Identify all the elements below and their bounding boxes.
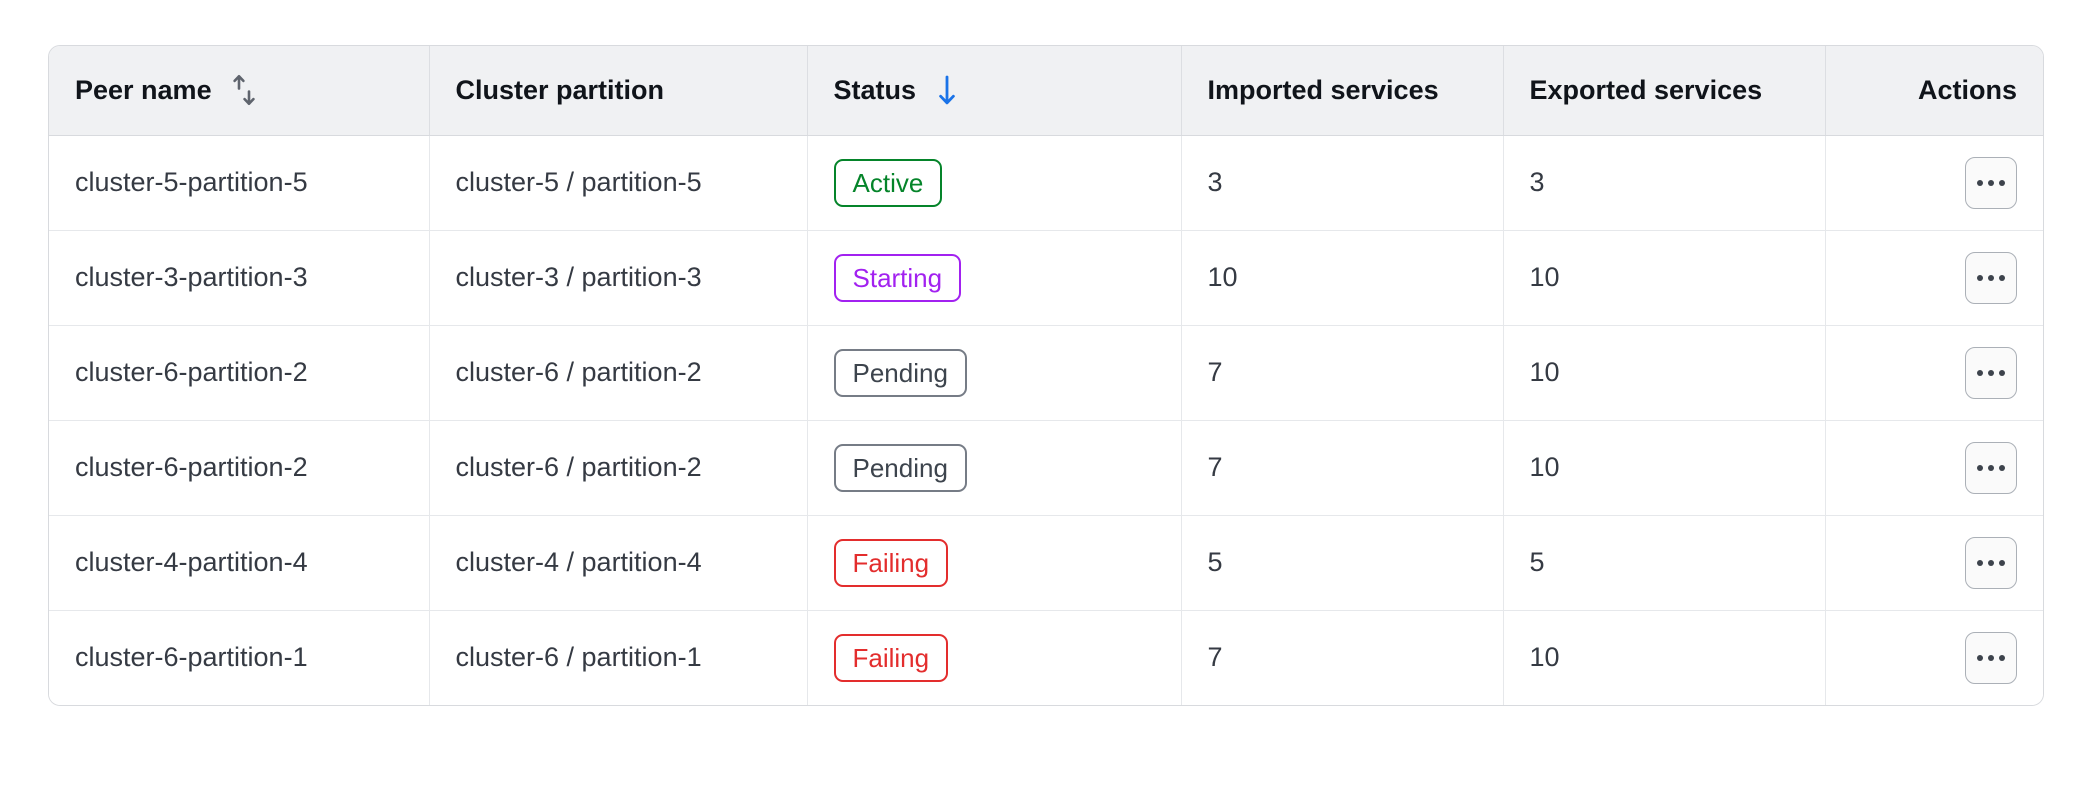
sort-updown-icon[interactable] — [230, 73, 258, 107]
cell-actions — [1825, 135, 2043, 230]
cell-exported-services: 10 — [1503, 325, 1825, 420]
table-header: Peer name — [49, 46, 2043, 135]
status-badge: Pending — [834, 349, 967, 397]
cell-cluster-partition: cluster-4 / partition-4 — [429, 515, 807, 610]
row-actions-menu-button[interactable] — [1965, 157, 2017, 209]
cell-cluster-partition: cluster-6 / partition-2 — [429, 420, 807, 515]
peers-table: Peer name — [49, 46, 2043, 705]
cell-status: Failing — [807, 515, 1181, 610]
ellipsis-horizontal-icon — [1977, 275, 2005, 281]
cell-cluster-partition: cluster-3 / partition-3 — [429, 230, 807, 325]
cell-status: Pending — [807, 420, 1181, 515]
cell-cluster-partition: cluster-5 / partition-5 — [429, 135, 807, 230]
cell-peer-name: cluster-5-partition-5 — [49, 135, 429, 230]
cell-exported-services: 5 — [1503, 515, 1825, 610]
cell-status: Active — [807, 135, 1181, 230]
column-header-cluster-partition[interactable]: Cluster partition — [429, 46, 807, 135]
cell-peer-name: cluster-3-partition-3 — [49, 230, 429, 325]
cell-exported-services: 10 — [1503, 420, 1825, 515]
cell-actions — [1825, 515, 2043, 610]
column-header-peer-name[interactable]: Peer name — [49, 46, 429, 135]
table-row[interactable]: cluster-5-partition-5cluster-5 / partiti… — [49, 135, 2043, 230]
cell-peer-name: cluster-6-partition-2 — [49, 420, 429, 515]
column-header-exported-services[interactable]: Exported services — [1503, 46, 1825, 135]
ellipsis-horizontal-icon — [1977, 465, 2005, 471]
cell-peer-name: cluster-6-partition-2 — [49, 325, 429, 420]
cell-actions — [1825, 420, 2043, 515]
cell-imported-services: 10 — [1181, 230, 1503, 325]
status-badge: Active — [834, 159, 943, 207]
column-header-imported-services[interactable]: Imported services — [1181, 46, 1503, 135]
table-header-row: Peer name — [49, 46, 2043, 135]
peers-table-container: Peer name — [48, 45, 2044, 706]
cell-peer-name: cluster-6-partition-1 — [49, 610, 429, 705]
row-actions-menu-button[interactable] — [1965, 252, 2017, 304]
cell-exported-services: 3 — [1503, 135, 1825, 230]
row-actions-menu-button[interactable] — [1965, 632, 2017, 684]
cell-imported-services: 7 — [1181, 420, 1503, 515]
cell-actions — [1825, 610, 2043, 705]
peers-table-page: Peer name — [0, 0, 2096, 808]
ellipsis-horizontal-icon — [1977, 370, 2005, 376]
cell-exported-services: 10 — [1503, 610, 1825, 705]
ellipsis-horizontal-icon — [1977, 180, 2005, 186]
column-header-exported-services-label: Exported services — [1530, 75, 1763, 106]
table-row[interactable]: cluster-6-partition-2cluster-6 / partiti… — [49, 420, 2043, 515]
status-badge: Failing — [834, 539, 949, 587]
status-badge: Pending — [834, 444, 967, 492]
cell-actions — [1825, 325, 2043, 420]
cell-exported-services: 10 — [1503, 230, 1825, 325]
cell-cluster-partition: cluster-6 / partition-2 — [429, 325, 807, 420]
ellipsis-horizontal-icon — [1977, 560, 2005, 566]
ellipsis-horizontal-icon — [1977, 655, 2005, 661]
cell-status: Starting — [807, 230, 1181, 325]
cell-imported-services: 7 — [1181, 610, 1503, 705]
cell-status: Failing — [807, 610, 1181, 705]
column-header-imported-services-label: Imported services — [1208, 75, 1439, 106]
cell-cluster-partition: cluster-6 / partition-1 — [429, 610, 807, 705]
table-row[interactable]: cluster-6-partition-1cluster-6 / partiti… — [49, 610, 2043, 705]
row-actions-menu-button[interactable] — [1965, 537, 2017, 589]
column-header-status-label: Status — [834, 75, 917, 106]
cell-imported-services: 7 — [1181, 325, 1503, 420]
column-header-actions-label: Actions — [1918, 75, 2017, 106]
status-badge: Starting — [834, 254, 962, 302]
status-badge: Failing — [834, 634, 949, 682]
table-row[interactable]: cluster-6-partition-2cluster-6 / partiti… — [49, 325, 2043, 420]
cell-imported-services: 5 — [1181, 515, 1503, 610]
column-header-status[interactable]: Status — [807, 46, 1181, 135]
row-actions-menu-button[interactable] — [1965, 442, 2017, 494]
row-actions-menu-button[interactable] — [1965, 347, 2017, 399]
column-header-peer-name-label: Peer name — [75, 75, 212, 106]
cell-status: Pending — [807, 325, 1181, 420]
table-row[interactable]: cluster-4-partition-4cluster-4 / partiti… — [49, 515, 2043, 610]
cell-actions — [1825, 230, 2043, 325]
column-header-cluster-partition-label: Cluster partition — [456, 75, 665, 106]
cell-imported-services: 3 — [1181, 135, 1503, 230]
column-header-actions: Actions — [1825, 46, 2043, 135]
sort-descending-arrow-icon[interactable] — [934, 73, 960, 107]
table-body: cluster-5-partition-5cluster-5 / partiti… — [49, 135, 2043, 705]
cell-peer-name: cluster-4-partition-4 — [49, 515, 429, 610]
table-row[interactable]: cluster-3-partition-3cluster-3 / partiti… — [49, 230, 2043, 325]
